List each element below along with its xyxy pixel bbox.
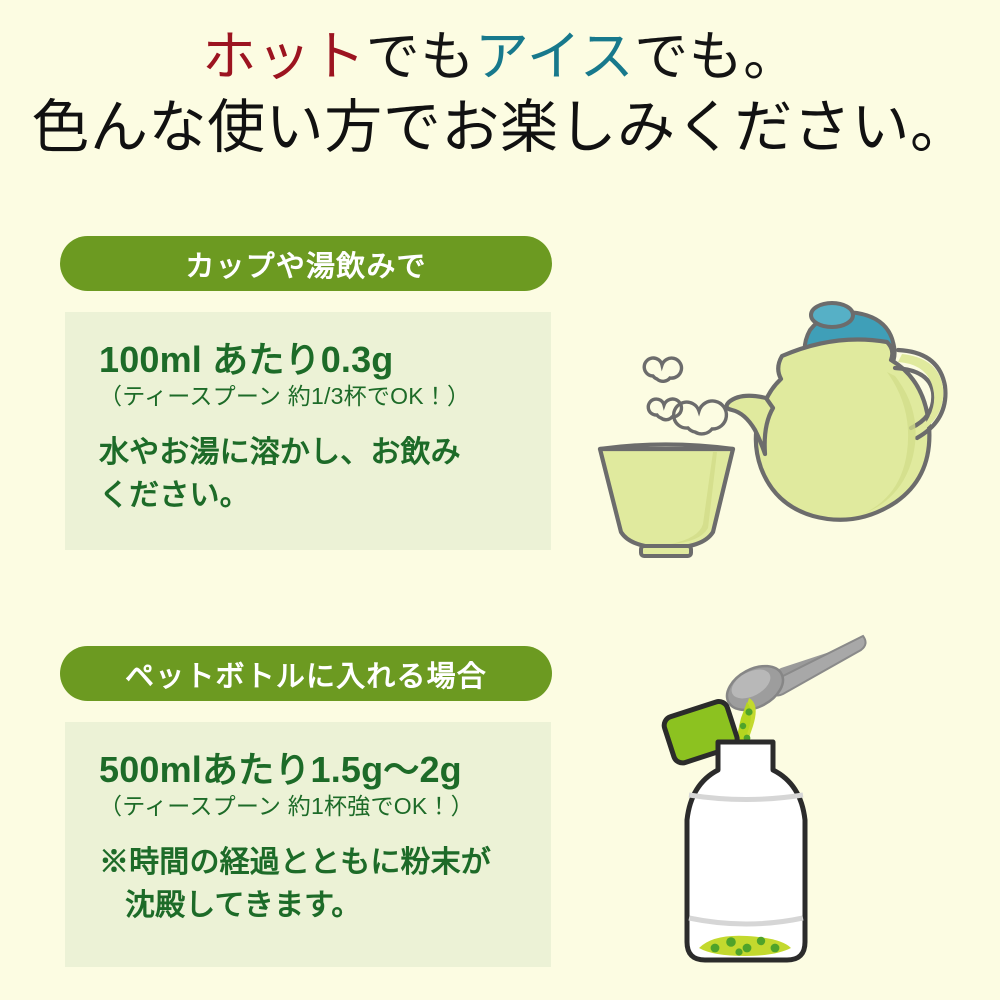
bottle-and-spoon-illustration [655, 630, 965, 985]
section-cup-pill-banner: カップや湯飲みで [60, 236, 552, 291]
section-bottle-body: ※時間の経過とともに粉末が 沈殿してきます。 [99, 842, 521, 927]
teapot-and-cup-illustration [595, 280, 965, 575]
spoon-icon [720, 636, 866, 719]
pet-bottle-icon [687, 742, 805, 960]
page-headline: ホットでもアイスでも。 色んな使い方でお楽しみください。 [0, 26, 1000, 162]
section-cup-body-line-1: 水やお湯に溶かし、お飲み [99, 432, 521, 475]
headline-demo-text-1: でも [366, 27, 475, 87]
section-cup-body: 水やお湯に溶かし、お飲み ください。 [99, 432, 521, 517]
headline-demo-text-2: でも。 [634, 27, 798, 87]
section-bottle-pill-banner: ペットボトルに入れる場合 [60, 646, 552, 701]
section-cup-dose-note: （ティースプーン 約1/3杯でOK！） [99, 383, 521, 411]
section-cup-panel: 100ml あたり0.3g （ティースプーン 約1/3杯でOK！） 水やお湯に溶… [65, 312, 551, 550]
headline-hot-text: ホット [202, 27, 366, 87]
teapot-icon [727, 303, 946, 520]
headline-line-2: 色んな使い方でお楽しみください。 [0, 94, 1000, 162]
section-cup-pill-label: カップや湯飲みで [185, 243, 426, 285]
section-bottle-dose-note: （ティースプーン 約1杯強でOK！） [99, 793, 521, 821]
teacup-icon [600, 445, 733, 557]
section-cup-body-line-2: ください。 [99, 475, 521, 518]
headline-ice-text: アイス [475, 27, 634, 87]
section-bottle-body-line-2: 沈殿してきます。 [99, 885, 521, 928]
steam-icon [644, 358, 726, 434]
section-bottle-panel: 500mlあたり1.5g〜2g （ティースプーン 約1杯強でOK！） ※時間の経… [65, 722, 551, 967]
section-bottle-pill-label: ペットボトルに入れる場合 [125, 653, 487, 695]
section-bottle-body-line-1: ※時間の経過とともに粉末が [99, 842, 521, 885]
section-cup-dose: 100ml あたり0.3g [99, 340, 521, 380]
section-bottle-dose: 500mlあたり1.5g〜2g [99, 750, 521, 790]
headline-line-1: ホットでもアイスでも。 [0, 26, 1000, 90]
